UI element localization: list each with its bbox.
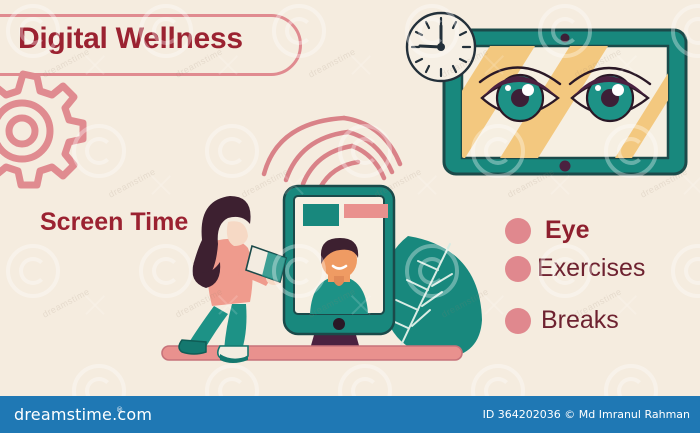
clock-icon bbox=[404, 10, 478, 84]
image-id-credit: ID 364202036 © Md Imranul Rahman bbox=[483, 408, 690, 421]
dreamstime-logo: dreamstime.com® bbox=[14, 405, 159, 424]
watermark-spiral-icon bbox=[6, 244, 60, 298]
list-item: Exercises bbox=[505, 254, 645, 283]
list-item: Eye bbox=[505, 216, 589, 245]
page-title: Digital Wellness bbox=[18, 22, 243, 56]
registered-mark: ® bbox=[116, 406, 123, 414]
screen-time-label: Screen Time bbox=[40, 208, 188, 237]
illustration-canvas: Digital Wellness Screen Time bbox=[0, 0, 700, 396]
watermark-spiral-icon bbox=[205, 124, 259, 178]
central-scene bbox=[150, 178, 490, 378]
gear-outline-icon bbox=[0, 62, 98, 212]
watermark-text: dreamstime bbox=[41, 286, 92, 319]
bullet-dot-icon bbox=[505, 218, 531, 244]
bullet-label: Breaks bbox=[541, 306, 619, 335]
brand-text: dreamstime.com bbox=[14, 405, 152, 424]
screen-bar-teal bbox=[303, 204, 339, 226]
woman-walking-with-tablet bbox=[179, 196, 286, 363]
stock-illustration-screenshot: Digital Wellness Screen Time bbox=[0, 0, 700, 433]
watermark-text: dreamstime bbox=[307, 46, 358, 79]
floor-bar bbox=[162, 346, 462, 360]
watermark-spiral-icon bbox=[72, 364, 126, 396]
bullet-dot-icon bbox=[505, 256, 531, 282]
bullet-label: Exercises bbox=[537, 254, 645, 283]
watermark-spiral-icon bbox=[671, 244, 700, 298]
leaf-icon bbox=[382, 236, 482, 358]
watermark-cross-icon bbox=[348, 52, 374, 78]
bullet-label: Eye bbox=[545, 216, 589, 245]
bullet-dot-icon bbox=[505, 308, 531, 334]
list-item: Breaks bbox=[505, 306, 619, 335]
screen-bar-pink bbox=[344, 204, 388, 218]
watermark-cross-icon bbox=[82, 292, 108, 318]
watermark-spiral-icon bbox=[604, 364, 658, 396]
stock-footer-bar: dreamstime.com® ID 364202036 © Md Imranu… bbox=[0, 396, 700, 433]
